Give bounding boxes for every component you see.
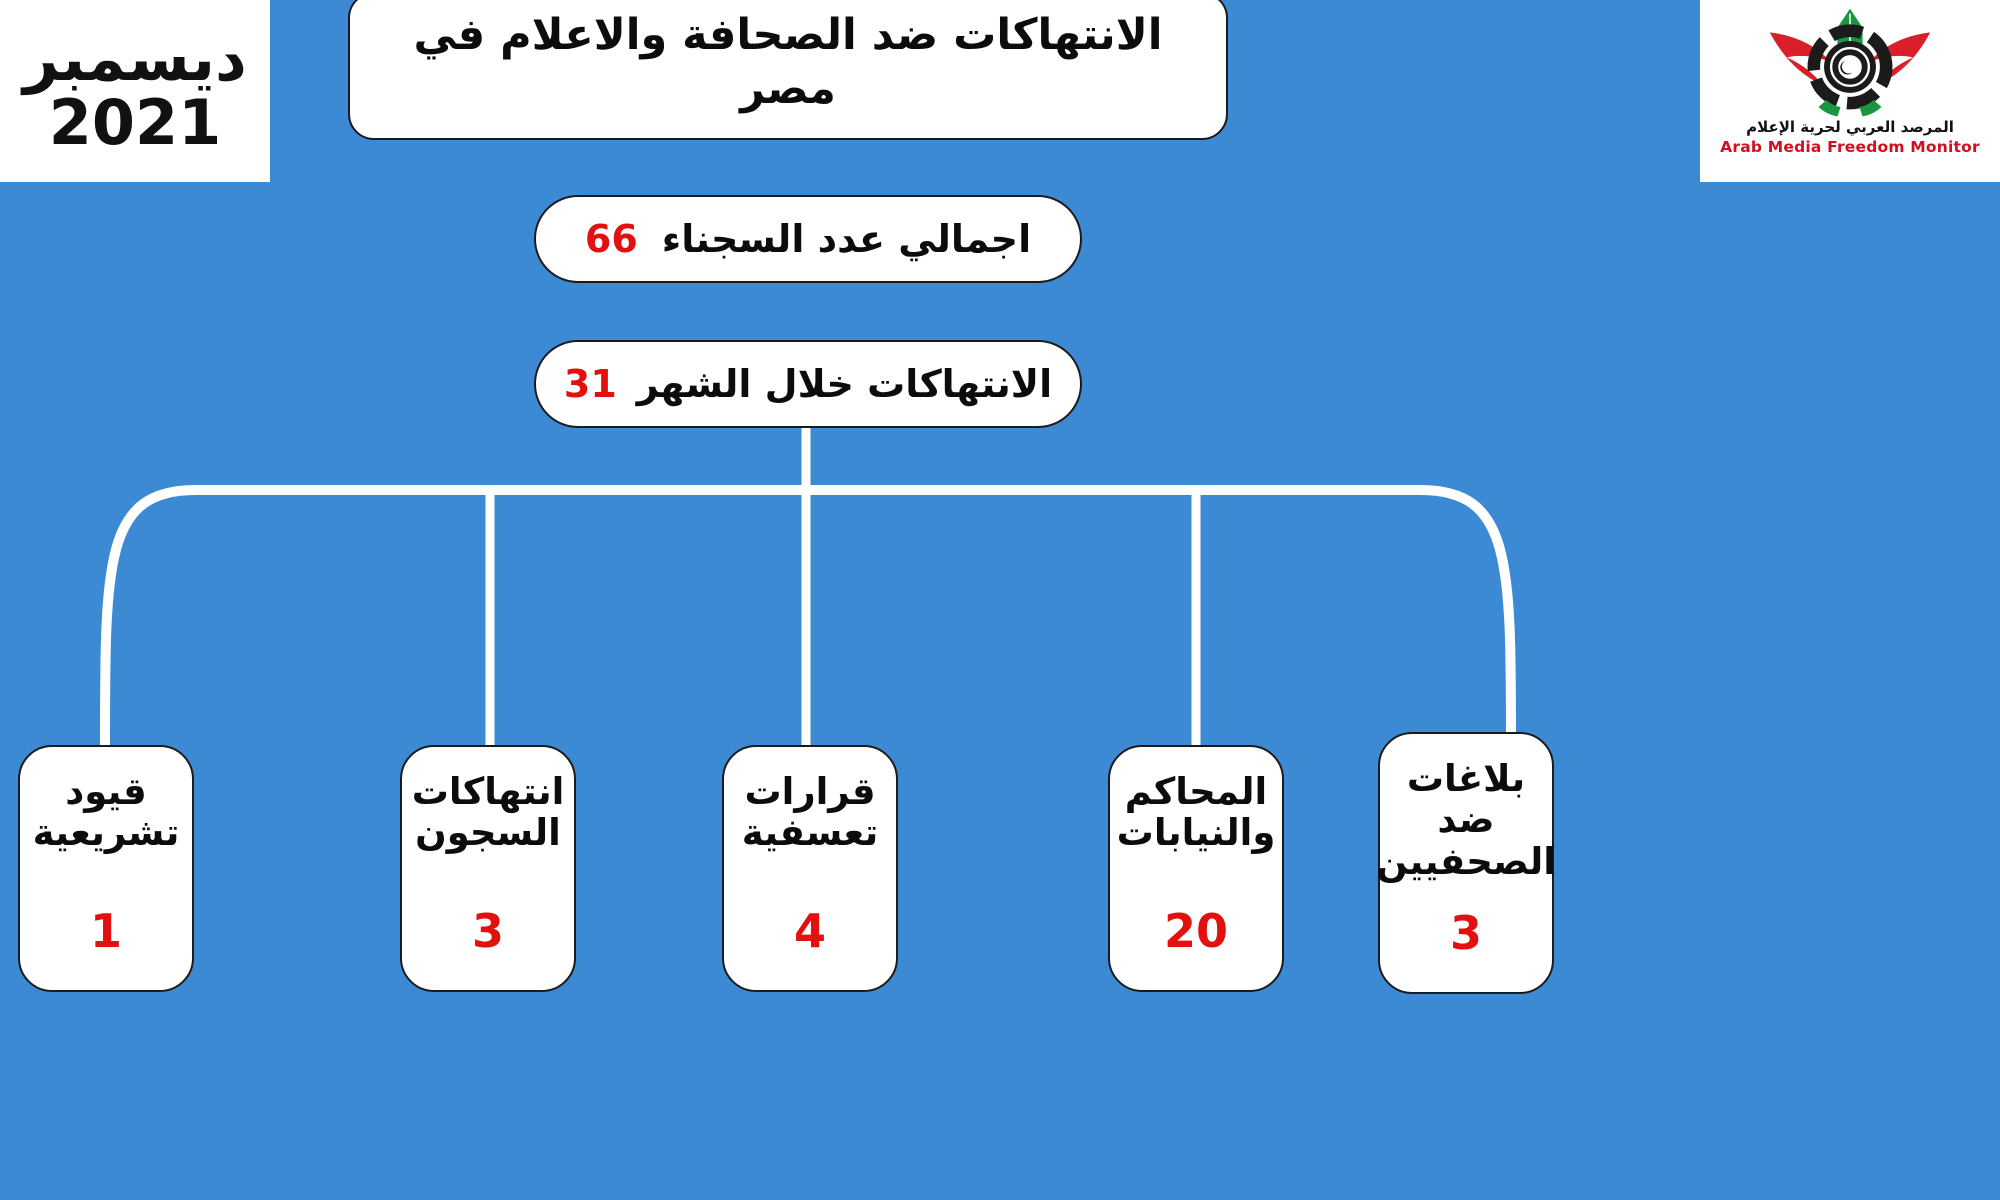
infographic-canvas: ديسمبر 2021 الانتهاكات ضد الصحافة والاعل… xyxy=(0,0,2000,1200)
category-count: 3 xyxy=(472,904,504,958)
date-year: 2021 xyxy=(49,92,222,154)
category-box-legislative-restrictions[interactable]: قيود تشريعية 1 xyxy=(18,745,194,992)
total-prisoners-label: اجمالي عدد السجناء xyxy=(662,217,1031,261)
logo-arabic-name: المرصد العربي لحرية الإعلام xyxy=(1746,118,1954,136)
logo-english-name: Arab Media Freedom Monitor xyxy=(1720,138,1980,156)
category-box-reports-against-journalists[interactable]: بلاغات ضد الصحفيين 3 xyxy=(1378,732,1554,994)
category-label: بلاغات ضد الصحفيين xyxy=(1376,758,1556,882)
category-label: قرارات تعسفية xyxy=(742,771,879,854)
total-prisoners-value: 66 xyxy=(585,217,638,261)
month-violations-card: الانتهاكات خلال الشهر 31 xyxy=(534,340,1082,428)
category-count: 1 xyxy=(90,904,122,958)
month-violations-label: الانتهاكات خلال الشهر xyxy=(637,362,1052,406)
category-box-arbitrary-decisions[interactable]: قرارات تعسفية 4 xyxy=(722,745,898,992)
category-count: 4 xyxy=(794,904,826,958)
page-title: الانتهاكات ضد الصحافة والاعلام في مصر xyxy=(348,0,1228,140)
eye-lens-wings-logo-icon xyxy=(1762,4,1938,122)
month-violations-value: 31 xyxy=(564,362,617,406)
category-label: انتهاكات السجون xyxy=(412,771,565,854)
category-count: 20 xyxy=(1164,904,1228,958)
category-label: قيود تشريعية xyxy=(33,771,180,854)
category-label: المحاكم والنيابات xyxy=(1117,771,1276,854)
total-prisoners-card: اجمالي عدد السجناء 66 xyxy=(534,195,1082,283)
date-block: ديسمبر 2021 xyxy=(0,0,270,182)
logo: المرصد العربي لحرية الإعلام Arab Media F… xyxy=(1700,0,2000,182)
category-box-prison-violations[interactable]: انتهاكات السجون 3 xyxy=(400,745,576,992)
category-count: 3 xyxy=(1450,906,1482,960)
page-title-text: الانتهاكات ضد الصحافة والاعلام في مصر xyxy=(368,9,1208,117)
date-month: ديسمبر xyxy=(23,28,247,90)
category-box-courts-and-prosecutions[interactable]: المحاكم والنيابات 20 xyxy=(1108,745,1284,992)
